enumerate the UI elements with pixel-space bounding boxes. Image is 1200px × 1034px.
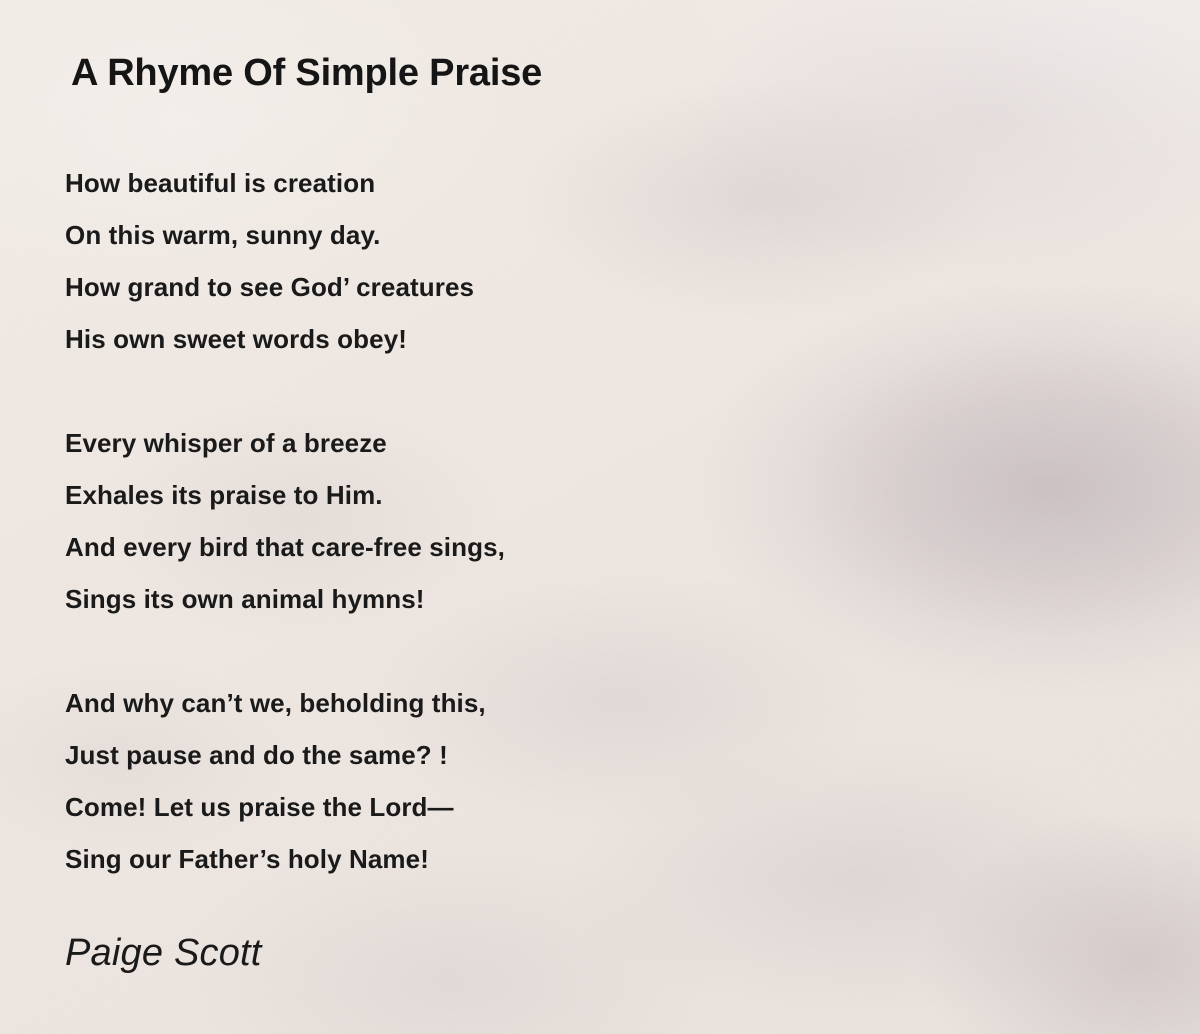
poem-content: A Rhyme Of Simple Praise How beautiful i… <box>65 0 1200 1034</box>
poem-line: Exhales its praise to Him. <box>65 469 965 521</box>
poem-line: Come! Let us praise the Lord— <box>65 781 965 833</box>
poem-line: Just pause and do the same? ! <box>65 729 965 781</box>
poem-line: And every bird that care-free sings, <box>65 521 965 573</box>
poem-author: Paige Scott <box>65 932 262 975</box>
poem-body: How beautiful is creation On this warm, … <box>65 157 965 885</box>
stanza: How beautiful is creation On this warm, … <box>65 157 965 365</box>
stanza: And why can’t we, beholding this, Just p… <box>65 677 965 885</box>
poem-line: On this warm, sunny day. <box>65 209 965 261</box>
poem-page: A Rhyme Of Simple Praise How beautiful i… <box>0 0 1200 1034</box>
poem-line: Every whisper of a breeze <box>65 417 965 469</box>
poem-line: Sings its own animal hymns! <box>65 573 965 625</box>
poem-line: How beautiful is creation <box>65 157 965 209</box>
stanza: Every whisper of a breeze Exhales its pr… <box>65 417 965 625</box>
poem-line: How grand to see God’ creatures <box>65 261 965 313</box>
poem-line: And why can’t we, beholding this, <box>65 677 965 729</box>
page-title: A Rhyme Of Simple Praise <box>71 52 542 95</box>
poem-line: Sing our Father’s holy Name! <box>65 833 965 885</box>
poem-line: His own sweet words obey! <box>65 313 965 365</box>
